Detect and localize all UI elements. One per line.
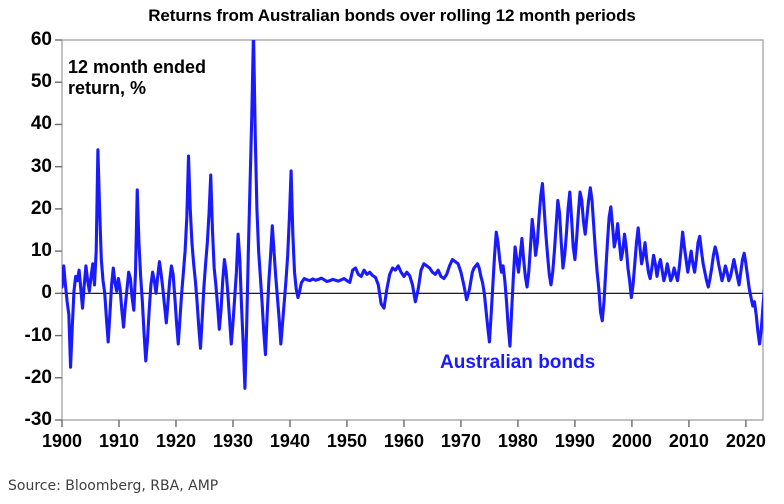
x-tick-label: 1910 bbox=[93, 432, 145, 450]
y-tick-label: -20 bbox=[0, 368, 52, 387]
x-tick-label: 1990 bbox=[549, 432, 601, 450]
y-tick-label: -10 bbox=[0, 326, 52, 345]
y-axis-note-line2: return, % bbox=[68, 78, 258, 99]
x-tick-label: 2000 bbox=[606, 432, 658, 450]
chart-container: Returns from Australian bonds over rolli… bbox=[0, 0, 784, 504]
x-tick-label: 1900 bbox=[36, 432, 88, 450]
y-axis-note: 12 month ended return, % bbox=[68, 57, 258, 99]
x-tick-label: 1960 bbox=[378, 432, 430, 450]
x-tick-label: 2010 bbox=[663, 432, 715, 450]
x-tick-label: 1970 bbox=[435, 432, 487, 450]
x-tick-label: 1920 bbox=[150, 432, 202, 450]
source-note: Source: Bloomberg, RBA, AMP bbox=[8, 478, 218, 494]
y-tick-label: 20 bbox=[0, 199, 52, 218]
y-tick-label: -30 bbox=[0, 410, 52, 429]
x-tick-label: 1930 bbox=[207, 432, 259, 450]
y-tick-label: 50 bbox=[0, 72, 52, 91]
y-tick-label: 10 bbox=[0, 241, 52, 260]
x-tick-label: 1950 bbox=[321, 432, 373, 450]
y-axis-note-line1: 12 month ended bbox=[68, 57, 258, 78]
y-tick-label: 40 bbox=[0, 114, 52, 133]
y-axis-ticks bbox=[55, 40, 62, 420]
x-tick-label: 1980 bbox=[492, 432, 544, 450]
y-tick-label: 30 bbox=[0, 157, 52, 176]
y-tick-label: 0 bbox=[0, 283, 52, 302]
x-axis-ticks bbox=[62, 420, 746, 427]
x-tick-label: 1940 bbox=[264, 432, 316, 450]
x-tick-label: 2020 bbox=[720, 432, 772, 450]
series-annotation-australian-bonds: Australian bonds bbox=[440, 352, 595, 374]
y-tick-label: 60 bbox=[0, 30, 52, 49]
